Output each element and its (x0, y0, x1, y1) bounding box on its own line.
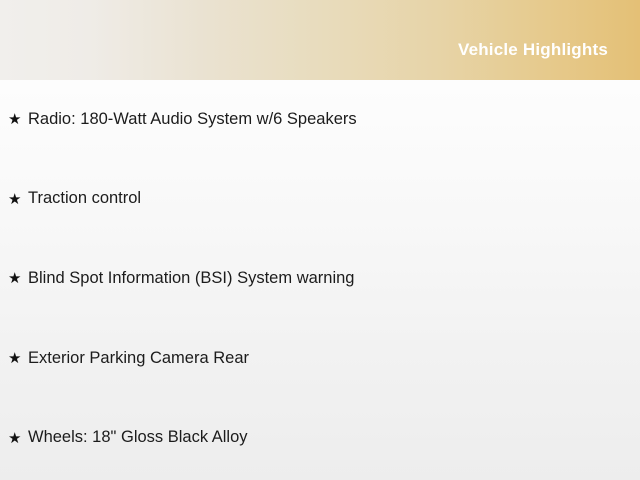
star-icon: ★ (8, 192, 28, 207)
highlight-label: Wheels: 18" Gloss Black Alloy (28, 428, 640, 448)
vehicle-highlights-panel: Vehicle Highlights ★ Radio: 180-Watt Aud… (0, 0, 640, 480)
list-item: ★ Blind Spot Information (BSI) System wa… (0, 239, 640, 319)
list-item: ★ Radio: 180-Watt Audio System w/6 Speak… (0, 80, 640, 160)
list-item: ★ Wheels: 18" Gloss Black Alloy (0, 398, 640, 478)
star-icon: ★ (8, 112, 28, 127)
vehicle-highlights-list: ★ Radio: 180-Watt Audio System w/6 Speak… (0, 80, 640, 480)
page-title: Vehicle Highlights (458, 41, 608, 58)
highlight-label: Traction control (28, 189, 640, 209)
list-item: ★ Traction control (0, 160, 640, 240)
star-icon: ★ (8, 431, 28, 446)
star-icon: ★ (8, 271, 28, 286)
highlight-label: Radio: 180-Watt Audio System w/6 Speaker… (28, 110, 640, 130)
star-icon: ★ (8, 351, 28, 366)
list-item: ★ Exterior Parking Camera Rear (0, 319, 640, 399)
panel-header: Vehicle Highlights (0, 0, 640, 80)
highlight-label: Blind Spot Information (BSI) System warn… (28, 269, 640, 289)
highlight-label: Exterior Parking Camera Rear (28, 349, 640, 369)
